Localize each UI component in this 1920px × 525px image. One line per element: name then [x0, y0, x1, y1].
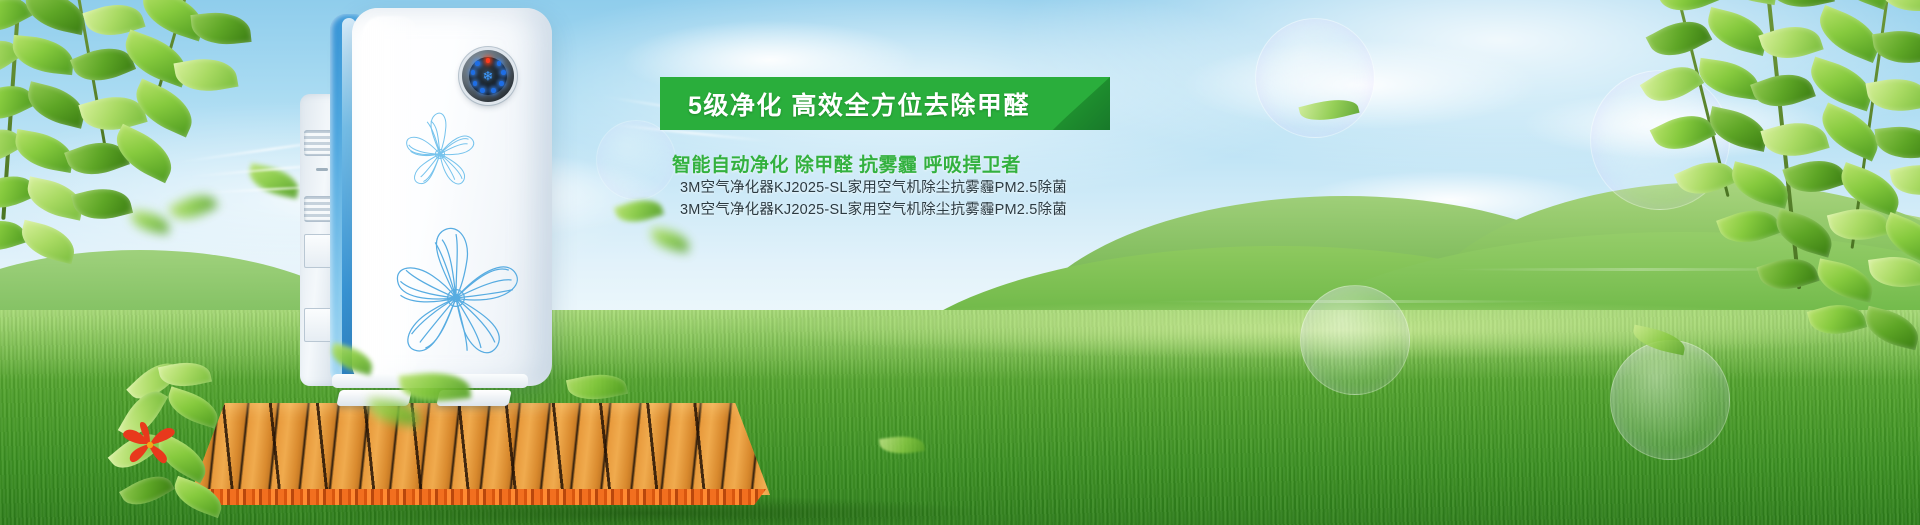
bokeh-bubble — [1300, 285, 1410, 395]
description-line: 3M空气净化器KJ2025-SL家用空气机除尘抗雾霾PM2.5除菌 — [680, 200, 1067, 222]
bokeh-bubble — [1590, 70, 1730, 210]
led-indicator — [491, 88, 496, 93]
purifier-gloss-highlight — [362, 16, 420, 376]
led-indicator — [501, 70, 506, 75]
description-line: 3M空气净化器KJ2025-SL家用空气机除尘抗雾霾PM2.5除菌 — [680, 178, 1067, 200]
led-indicator — [473, 81, 478, 86]
headline-fold-corner — [1052, 77, 1110, 130]
air-purifier[interactable]: ❄ — [290, 8, 560, 418]
led-indicator-active — [486, 58, 491, 63]
bokeh-bubble — [1610, 340, 1730, 460]
led-indicator — [480, 88, 485, 93]
description-block: 3M空气净化器KJ2025-SL家用空气机除尘抗雾霾PM2.5除菌 3M空气净化… — [680, 178, 1067, 222]
subtitle-text: 智能自动净化 除甲醛 抗雾霾 呼吸捍卫者 — [672, 150, 1021, 177]
led-indicator — [499, 81, 504, 86]
headline-text: 5级净化 高效全方位去除甲醛 — [688, 77, 1030, 130]
led-indicator — [475, 61, 480, 66]
snowflake-icon: ❄ — [483, 70, 494, 83]
purifier-side-notch — [316, 168, 328, 171]
led-indicator — [497, 61, 502, 66]
control-panel-face: ❄ — [469, 57, 507, 95]
control-panel[interactable]: ❄ — [462, 50, 514, 102]
product-banner: ❄ — [0, 0, 1920, 525]
headline-banner: 5级净化 高效全方位去除甲醛 — [660, 77, 1110, 130]
hill-highlight — [1450, 268, 1830, 271]
bokeh-bubble — [596, 120, 676, 200]
led-indicator — [471, 70, 476, 75]
deck-front-edge — [182, 489, 778, 505]
